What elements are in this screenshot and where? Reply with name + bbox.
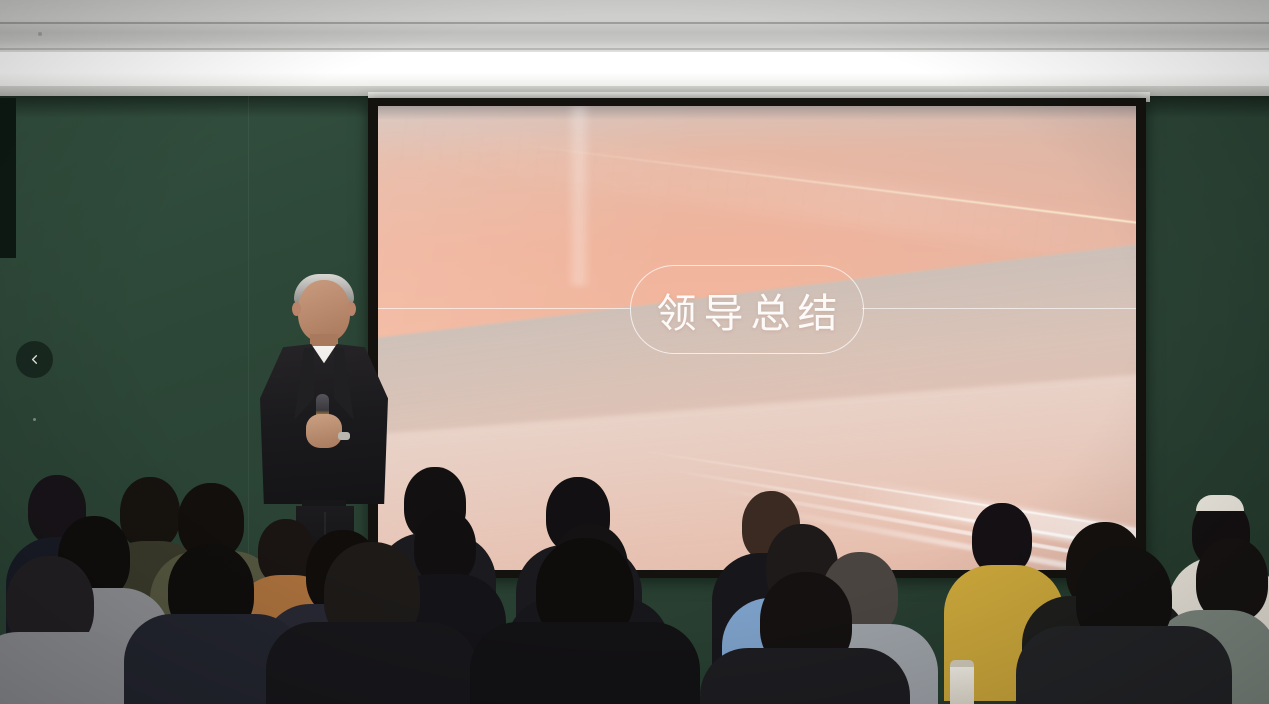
audience-body: [0, 632, 140, 704]
audience-body: [700, 648, 910, 704]
speaker-head: [298, 280, 350, 342]
ceiling-light-strip: [0, 52, 1269, 86]
photo-viewer-stage: 领导总结: [0, 0, 1269, 704]
projector-beam: [566, 106, 592, 286]
speaker-hands: [306, 414, 342, 448]
floor-light-dot: [33, 418, 36, 421]
speaker-wristwatch: [338, 432, 350, 440]
slide-rule-right: [862, 308, 1136, 309]
ceiling-screw: [38, 32, 42, 36]
wall-dark-recess: [0, 98, 16, 258]
ceiling-seam: [0, 22, 1269, 24]
previous-button[interactable]: [16, 341, 53, 378]
slide-title: 领导总结: [650, 281, 845, 339]
ceiling-seam: [0, 48, 1269, 50]
audience-body: [470, 622, 700, 704]
slide-title-pill: 领导总结: [630, 265, 864, 354]
chevron-left-icon: [27, 352, 42, 367]
audience-front-row: [0, 560, 1269, 704]
speaker-ear-left: [292, 302, 301, 316]
speaker-ear-right: [347, 302, 356, 316]
slide-rule-left: [378, 308, 630, 309]
screen-top-shade: [378, 106, 1136, 120]
audience-body: [1016, 626, 1232, 704]
audience-body: [266, 622, 478, 704]
